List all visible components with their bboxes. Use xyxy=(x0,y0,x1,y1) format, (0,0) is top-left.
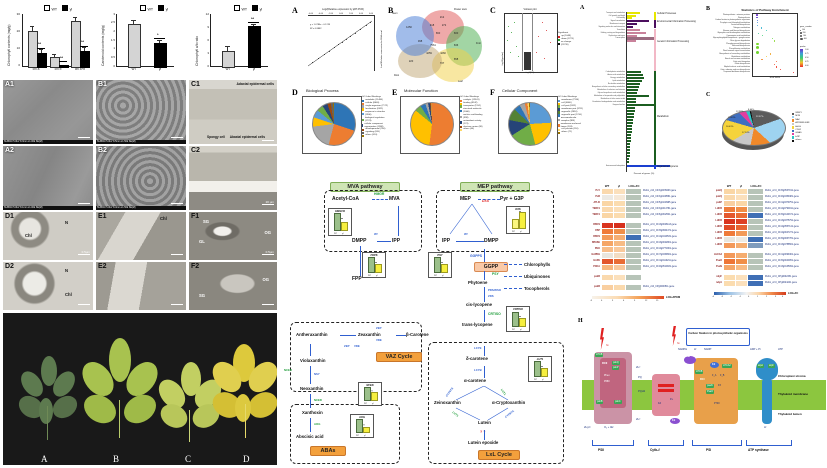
metabolite-violaxanthin: Violaxanthin xyxy=(300,358,325,363)
pie-box-mf xyxy=(400,96,460,154)
significance-marker: ** xyxy=(541,367,543,369)
carbon-fixation-box: Carbon fixation in photosynthetic organi… xyxy=(686,328,750,346)
pie-slice-label: 16.43% xyxy=(726,126,733,128)
subunit-p680: P680 xyxy=(604,380,610,383)
kegg-pathway-label: Signal transduction xyxy=(584,20,625,22)
heatmap-row-label: psbB xyxy=(576,276,600,278)
panel-label: E1 xyxy=(98,213,107,220)
panel-label: C2 xyxy=(191,147,200,154)
panel-label: D1 xyxy=(5,213,14,220)
tem-d1: D1 N Chl 0.5µm xyxy=(3,212,93,260)
volcano-plot: Volcano plot -log10(qvalue) log2(FC) Sig… xyxy=(498,8,574,80)
enzyme-pds-ziso: PDS/ZISO xyxy=(488,288,501,292)
panel-letter-e: E xyxy=(392,88,397,97)
complex-label-cytb6f: Cytb₆f xyxy=(650,448,660,452)
xtick: yl xyxy=(376,275,377,277)
legend-item: others (510) xyxy=(365,134,377,137)
volcano-legend: Significant up (1048) down (1723) no cha… xyxy=(558,32,574,47)
legend-item: 0.75 xyxy=(805,53,809,56)
product-chlorophylls: Chlorophylls xyxy=(524,262,550,267)
complex-cytb6f xyxy=(652,374,680,416)
ytick: 2 xyxy=(104,30,115,33)
scale-text: 0.5µm xyxy=(82,250,90,254)
subunit-atpa: atpA xyxy=(757,364,764,368)
subunit-psbp: psbP xyxy=(612,366,619,370)
tem-annotation-chl: Chl xyxy=(160,216,167,221)
legend-yl: yl xyxy=(260,8,263,12)
colorbar-tick: 3 xyxy=(775,296,776,298)
leaf-group-d xyxy=(215,342,277,450)
xtick: WT xyxy=(434,275,437,277)
complex-atp-stalk xyxy=(762,378,772,424)
kegg-pathway-label: Carbohydrate metabolism xyxy=(584,71,625,73)
bar-wt xyxy=(364,387,371,401)
enzyme-vde: VDE xyxy=(376,338,382,342)
chart-gene-label: CRTISO xyxy=(507,308,529,311)
heatmap-row-label: psbB xyxy=(576,286,600,288)
subunit-lhca2: LHCA2 xyxy=(722,364,732,368)
kegg-pathway-label: Cell motility xyxy=(584,17,625,19)
aba-label: ABAs xyxy=(310,446,346,456)
bar-wt xyxy=(434,257,441,273)
heatmap-row-label: GAPA xyxy=(576,260,600,262)
molecule-h-lumen: H⁺ xyxy=(764,426,767,429)
metabolite-trans-lycopene: trans-lycopene xyxy=(462,322,493,327)
xtick: yl xyxy=(342,233,343,235)
lxl-branch-arrows xyxy=(430,386,530,426)
metabolite-phytoene: Phytoene xyxy=(468,280,487,285)
xtick: yl xyxy=(152,68,168,71)
heatmap-col-yl: yl xyxy=(614,184,624,188)
chart-gene-label: DXS xyxy=(507,208,529,211)
molecule-fnr: FNR xyxy=(686,356,690,358)
leaf-photo-panel: A B C D xyxy=(3,313,277,465)
venn-count: 272 xyxy=(438,24,450,27)
ytick: 0 xyxy=(104,65,115,68)
chart-legend: WT yl xyxy=(44,5,72,12)
minichart-dxs: DXS ** WT yl xyxy=(506,206,530,234)
tem-d2: D2 N Chl xyxy=(3,262,93,310)
bar-wt xyxy=(512,312,519,327)
annotation-spongy: Spongy cell xyxy=(207,135,225,139)
molecule-atp: ATP xyxy=(778,348,783,351)
enzyme-zep2: ZEP xyxy=(344,344,349,348)
ytick: 0 xyxy=(9,64,20,67)
subunit-psbb: psbB xyxy=(596,400,603,404)
heatmap-col-yl: yl xyxy=(736,184,746,188)
tem-annotation-og: OG xyxy=(264,230,271,235)
colorbar-tick: 15 xyxy=(656,300,658,302)
xtick: chl b xyxy=(48,68,68,71)
tf-pie-legend: WRKY MYB NAC AP2/ERF-ERF bHLH C2H2 GRAS … xyxy=(792,112,822,143)
enzyme-crtiso: CRTISO xyxy=(488,312,501,316)
minichart-psy: PSY ** WT yl xyxy=(428,252,452,278)
pie-chart-mf xyxy=(410,102,454,146)
pathway-enrichment-plot: Statistics of Pathway Enrichment Photosy… xyxy=(710,8,826,86)
tem-annotation-chl: Chl xyxy=(25,233,32,238)
chart-legend: WT yl xyxy=(234,5,262,12)
pie-3d-chart xyxy=(722,110,786,146)
venn-count: 660 xyxy=(432,32,444,35)
kegg-pathway-label: Metabolism of other amino acids xyxy=(584,98,625,100)
subunit-lhcb-psi: LHCB xyxy=(695,370,703,374)
ytick: 30 xyxy=(9,13,20,16)
micrograph-infobar: SU8010 5.0kV 8.5mm x1.50k SE(M) xyxy=(96,140,186,144)
legend-title: qvalue xyxy=(800,46,822,49)
enzyme-zep: ZEP xyxy=(376,326,381,330)
molecule-oxygen: O₂ + 4H⁺ xyxy=(604,426,615,429)
unknown-step: ? ? xyxy=(480,430,485,434)
region-stroma: Chloroplast stroma xyxy=(778,374,806,378)
bar-yl-carotenoid xyxy=(154,43,167,68)
bar-yl-ratio xyxy=(248,26,261,68)
legend-item: others (46) xyxy=(463,128,474,131)
light-bolt-psi xyxy=(672,326,676,346)
subunit-fv: Fv xyxy=(670,398,673,401)
pie-chart-cc xyxy=(508,102,552,146)
bar-wt xyxy=(512,219,519,229)
heatmap-gene-id: Rvtho_v2.0_Chr3g0135091.gene xyxy=(765,266,799,268)
heatmap-row-label: LHCA2 xyxy=(702,254,722,256)
venn-label-root: Root xyxy=(394,74,399,77)
pie-slice-label: 17.14% xyxy=(742,132,749,134)
pie-legend-mf: GO Label Rankings catalytic (12541) bind… xyxy=(460,96,486,131)
legend-item: 400 xyxy=(804,38,807,41)
kegg-pathway-label: Energy metabolism xyxy=(584,77,625,79)
venn-label-leaf: Leaf xyxy=(458,80,463,83)
micrograph-a1: A1 SU8010 5.0kV 8.3mm x1.00k SE(M) xyxy=(3,80,93,144)
tf-family-pie: 22.37% 17.14% 16.43% 13.33% 12.98% 8.04%… xyxy=(712,94,826,176)
micrograph-infobar: SU8010 5.0kV 8.3mm x1.00k SE(M) xyxy=(3,140,93,144)
legend-wt: WT xyxy=(52,8,58,12)
pie-title-cc: Cellular Component xyxy=(502,88,537,93)
subunit-psbc: psbC xyxy=(614,400,622,404)
significance-marker: ** xyxy=(371,391,373,393)
venn-label-stem: Stem xyxy=(392,12,398,15)
subunit-rcii: RCII xyxy=(602,362,607,365)
heatmap-row-label: RBCS xyxy=(576,236,600,238)
heatmap-row-label: LHCB xyxy=(702,244,722,246)
pie-legend-bp: GO Label Rankings metabolic (11486) cell… xyxy=(362,96,388,137)
panel-label: E2 xyxy=(98,263,107,270)
panel-label: A1 xyxy=(5,81,14,88)
panel-letter-a: A xyxy=(292,6,298,15)
colorbar-tick: 3 xyxy=(612,300,613,302)
kegg-pathway-label: Xenobiotics biodegradation and metabolis… xyxy=(584,101,625,103)
heatmap-col-wt: WT xyxy=(724,184,734,188)
metabolite-mva: MVA xyxy=(389,196,400,202)
heatmap-gene-id: Rvtho_v2.0_Chr1g0110211.gene xyxy=(643,260,677,262)
legend-item: 0.00 xyxy=(805,65,809,68)
heatmap-gene-id: Rvtho_v2.0_CPg0024241.gene xyxy=(765,282,797,284)
pie-slice-label: 13.33% xyxy=(728,117,735,119)
heatmap-gene-id: Rvtho_v2.0_CPg0002451.gene xyxy=(765,276,797,278)
metabolite-ggpp: GGPP xyxy=(474,262,508,272)
heatmap-gene-id: Rvtho_v10_Chr3g0035203.gene xyxy=(643,190,676,192)
micrograph-infobar: SU8010 5.0kV 8.4mm x1.50k SE(M) xyxy=(96,206,186,210)
molecule-2h-top: 2H⁺ xyxy=(636,366,641,369)
xtick: yl xyxy=(542,379,543,381)
metabolite-delta-carotene: δ-carotene xyxy=(466,356,488,361)
heatmap-gene-id: Rvtho_v2.0_Chr5g0144671.gene xyxy=(765,214,799,216)
kegg-pathway-label: Environmental adaptation xyxy=(584,165,625,167)
significance-marker: ** xyxy=(251,17,254,21)
heatmap-row-label: psbP xyxy=(702,202,722,204)
chart-title: Statistics of Pathway Enrichment xyxy=(730,8,800,12)
subunit-fb: F_B xyxy=(720,374,724,377)
enzyme-vde2: VDE xyxy=(354,344,360,348)
complex-label-psi: PSI xyxy=(706,448,711,452)
panel-letter-f: F xyxy=(490,88,495,97)
xtick: WT xyxy=(368,275,371,277)
heatmap-gene-id: Rvtho_v2.0_Chr4g0419531.gene xyxy=(643,236,677,238)
heatmap-gene-id: Rvtho_v2.0_Chr3g0788561.gene xyxy=(765,244,799,246)
subunit-lhcb: LHCB xyxy=(595,353,603,357)
heatmap-row-label: LHCB xyxy=(702,220,722,222)
bar-yl xyxy=(519,212,526,229)
kegg-pathway-label: Metabolism of cofactors and vitamins xyxy=(584,89,625,91)
legend-item: others (71) xyxy=(561,131,572,134)
heatmap-row-label: LHCB xyxy=(702,226,722,228)
venn-count: 398 xyxy=(414,40,426,43)
heatmap-row-label: PsaN xyxy=(702,266,722,268)
heatmap-row-label: FBP xyxy=(576,230,600,232)
molecule-adp-pi: ADP + Pi xyxy=(750,348,761,351)
heatmap-gene-id: Rvtho_v2.0_Chr1g0379751.gene xyxy=(765,202,799,204)
molecule-pc: Fd xyxy=(672,419,675,422)
molecule-nadp: NADP⁺ xyxy=(704,348,713,351)
venn-count: 658 xyxy=(450,58,462,61)
significance-marker: ** xyxy=(60,56,63,60)
enzyme-ggpps: GGPPS xyxy=(470,254,482,258)
venn-count: 212 xyxy=(436,16,448,19)
panel-label: F1 xyxy=(191,213,199,220)
panel-label: F2 xyxy=(191,263,199,270)
leaf-group-a xyxy=(19,350,79,450)
colorbar-label: LOG₂FPKM xyxy=(666,296,680,299)
venn-label-flower-stem: Flower stem xyxy=(454,8,467,11)
venn-set-stem xyxy=(396,16,434,56)
heatmap-row-label: LHCB xyxy=(702,238,722,240)
regression-line xyxy=(300,8,382,78)
leaf-group-b xyxy=(85,338,157,450)
scale-text: 0.5µm xyxy=(266,250,274,254)
complex-label-psii: PSII xyxy=(598,448,604,452)
heatmap-row-label: LHCB xyxy=(702,232,722,234)
colorbar-logfc xyxy=(714,292,786,295)
tem-annotation-sg: SG xyxy=(203,219,209,224)
colorbar-tick: 0 xyxy=(601,300,602,302)
panel-label: B2 xyxy=(98,147,107,154)
ytick: 6 xyxy=(198,39,209,42)
enzyme-nced: NCED xyxy=(314,398,322,402)
significance-marker: * xyxy=(157,33,159,37)
significance-marker: ** xyxy=(375,263,377,265)
micrograph-c2: C2 20 µm xyxy=(189,146,277,210)
micrograph-b2: B2 SU8010 5.0kV 8.4mm x1.50k SE(M) xyxy=(96,146,186,210)
heatmap-right-column: WT yl LOG₂FC E psbQ Rvtho_v2.0_Chr5g0537… xyxy=(702,184,827,314)
venn-count: 737 xyxy=(436,62,448,65)
subunit-rci: RCI xyxy=(700,378,704,381)
tem-annotation-og: OG xyxy=(262,277,269,282)
heatmap-row-label: BPASE xyxy=(576,242,600,244)
heatmap-gene-id: Rvtho_v10_Chr5g0140995.gene xyxy=(643,202,676,204)
photo-label-d: D xyxy=(243,454,250,464)
significance-marker: ** xyxy=(38,42,41,46)
heatmap-col-wt: WT xyxy=(602,184,612,188)
heatmap-row-label: PGK xyxy=(576,248,600,250)
heatmap-col-logfc: LOG₂FC xyxy=(626,184,642,188)
legend-item: no change (21726) xyxy=(561,41,574,47)
molecule-pq: PQ xyxy=(638,376,642,379)
kegg-category: Metabolism xyxy=(657,116,669,118)
venn-count: 636 xyxy=(450,44,462,47)
heatmap-gene-id: Rvtho_v2.0_Chr3g0375791.gene xyxy=(765,220,799,222)
heatmap-row-label: psbQ xyxy=(702,196,722,198)
xtick: WT xyxy=(334,233,337,235)
heatmap-gene-id: Rvtho_v2.0_Chr4g0047271.gene xyxy=(765,232,799,234)
colorbar-tick: -4 xyxy=(712,296,714,298)
bar-yl xyxy=(341,222,348,231)
micrograph-infobar: SU8010 5.0kV 8.1mm x1.00k SE(M) xyxy=(3,206,93,210)
bar-yl-chlab xyxy=(80,51,90,68)
kegg-pathway-label: Translation xyxy=(584,29,625,31)
significance-marker: ** xyxy=(441,263,443,265)
molecule-fd-psi: Fd xyxy=(712,363,715,366)
significance-marker: ** xyxy=(363,425,365,427)
heatmap-row-label: RBCS xyxy=(576,224,600,226)
minichart-lut1: LUT1 ** WT yl xyxy=(528,356,552,382)
subunit-p700: P700 xyxy=(714,402,720,405)
heatmap-gene-id: Rvtho_v2.0_Chr7g0339661.gene xyxy=(643,254,677,256)
metabolite-neoxanthin: Neoxanthin xyxy=(300,386,323,391)
ytick: 1 xyxy=(104,47,115,50)
minichart-aog: AOG ** WT yl xyxy=(350,414,374,438)
tem-e1: E1 Chl xyxy=(96,212,186,260)
xtick: yl xyxy=(246,68,262,71)
heatmap-gene-id: Rvtho_v2.0_Chr4g0771801.gene xyxy=(643,248,677,250)
heatmap-gene-id: Rvtho_v10_Chr3g0148561.gene xyxy=(643,196,676,198)
heatmap-gene-id: Rvtho_v2.0_Chr5g0537191.gene xyxy=(765,190,799,192)
ytick: 3 xyxy=(198,52,209,55)
xtick: WT xyxy=(534,379,537,381)
tem-f2: F2 OG SG xyxy=(189,262,277,310)
heatmap-row-label: ATLI0 xyxy=(576,202,600,204)
subunit-fd: Fd xyxy=(658,402,661,405)
complex-atp-head xyxy=(756,358,778,380)
legend-yl: yl xyxy=(70,8,73,12)
heatmap-gene-id: Rvtho_v2.0_Chr5g0040051.gene xyxy=(765,260,799,262)
minichart-crtiso: CRTISO ** WT yl xyxy=(506,306,530,332)
ytick: 9 xyxy=(198,26,209,29)
pie-title-bp: Biological Process xyxy=(306,88,339,93)
xtick: WT xyxy=(220,68,236,71)
heatmap-row-label: LHCB xyxy=(702,208,722,210)
light-bolt-psii xyxy=(600,328,604,350)
enzyme-lcyb: LCYB xyxy=(474,368,482,372)
enzyme-zds: ZDS xyxy=(488,294,494,298)
heatmap-row-label: PsY xyxy=(576,190,600,192)
subunit-psbq: psbQ xyxy=(612,361,620,365)
heatmap-row-label: GAPDH xyxy=(576,254,600,256)
metabolite-antheraxanthin: Antheraxanthin xyxy=(296,332,328,337)
panel-label: C1 xyxy=(191,81,200,88)
kegg-pathway-label: Enzyme families xyxy=(584,104,625,106)
xtick: chl a xyxy=(26,68,46,71)
heatmap-gene-id: Rvtho_v2.0_Chr4g0557141.gene xyxy=(765,226,799,228)
legend-item: 1.00 xyxy=(805,49,809,52)
ytick: 20 xyxy=(9,30,20,33)
colorbar-tick: 1 xyxy=(757,296,758,298)
bar-yl xyxy=(363,427,370,433)
ytick: 0.5 xyxy=(104,56,115,59)
heatmap-gene-id: Rvtho_v10_Chr6g0342541.gene xyxy=(643,214,676,216)
region-lumen: Thylakoid lumen xyxy=(778,412,802,416)
tem-annotation-sg: SG xyxy=(199,293,205,298)
metabolite-acetyl-coa: Acetyl-CoA xyxy=(332,196,359,202)
enrichment-label: Terpenoid backbone biosynthesis xyxy=(710,71,750,73)
significance-marker: ** xyxy=(81,40,84,44)
heatmap-gene-id: Rvtho_v2.0_Chr3g0026113.gene xyxy=(643,224,677,226)
subunit-pheo: Pheo xyxy=(604,374,610,377)
significance-marker: ** xyxy=(519,212,521,214)
xtick: chl a+b xyxy=(68,68,92,71)
panel-letter-tf-pie: C xyxy=(706,92,710,98)
metabolite-ipp: IPP xyxy=(392,238,400,244)
micrograph-b1: B1 SU8010 5.0kV 8.5mm x1.50k SE(M) xyxy=(96,80,186,144)
heatmap-row-label: ndyF xyxy=(702,276,722,278)
kegg-pathway-label: Amino acid metabolism xyxy=(584,74,625,76)
kegg-pathway-label: Lipid metabolism xyxy=(584,80,625,82)
tem-f1: F1 SG OG GL 0.5µm xyxy=(189,212,277,260)
x-axis-label: Percent of genes (%) xyxy=(624,173,664,175)
colorbar-tick: 9 xyxy=(634,300,635,302)
colorbar-tick: -3 xyxy=(721,296,723,298)
venn-count: 418 xyxy=(426,24,438,27)
enzyme-nsy: NSY xyxy=(314,372,320,376)
xtick: yl xyxy=(520,231,521,233)
heatmap-gene-id: Rvtho_v2.0_Chr6g0510931.gene xyxy=(643,266,677,268)
pie-slice-label: 22.37% xyxy=(756,116,763,118)
panel-label: A2 xyxy=(5,147,14,154)
xtick: yl xyxy=(520,329,521,331)
tem-annotation-n: N xyxy=(65,268,68,273)
enrichment-color-legend: qvalue 1.00 0.75 0.50 0.25 0.00 xyxy=(800,46,822,67)
xtick: yl xyxy=(364,435,365,437)
metabolite-cis-lycopene: cis-lycopene xyxy=(466,302,492,307)
colorbar-tick: 4 xyxy=(782,296,783,298)
chart-legend: WT yl xyxy=(140,5,168,12)
legend-item: 0.25 xyxy=(805,61,809,64)
colorbar-tick: 6 xyxy=(623,300,624,302)
pie-box-bp xyxy=(302,96,362,154)
minichart-nced: NCED ** WT yl xyxy=(358,382,382,406)
minichart-fdps: FDPS ** WT yl xyxy=(362,252,386,278)
metabolite-dmpp: DMPP xyxy=(352,238,366,244)
xtick: WT xyxy=(512,231,515,233)
heatmap-col-logfc: LOG₂FC xyxy=(748,184,764,188)
panel-label: B1 xyxy=(98,81,107,88)
subunit-fa: F_A xyxy=(712,374,716,377)
y-axis-label: -log10(qvalue) xyxy=(502,52,504,66)
heatmap-row-label: psbQ xyxy=(702,190,722,192)
pie-slice-label: 12.98% xyxy=(736,111,743,113)
venn-count: 600 xyxy=(450,32,462,35)
minichart-hmgcr: HMGCR ** WT yl xyxy=(328,208,352,236)
legend-wt: WT xyxy=(148,8,154,12)
tem-e2: E2 xyxy=(96,262,186,310)
kegg-category: Cellular Processes xyxy=(657,13,676,15)
